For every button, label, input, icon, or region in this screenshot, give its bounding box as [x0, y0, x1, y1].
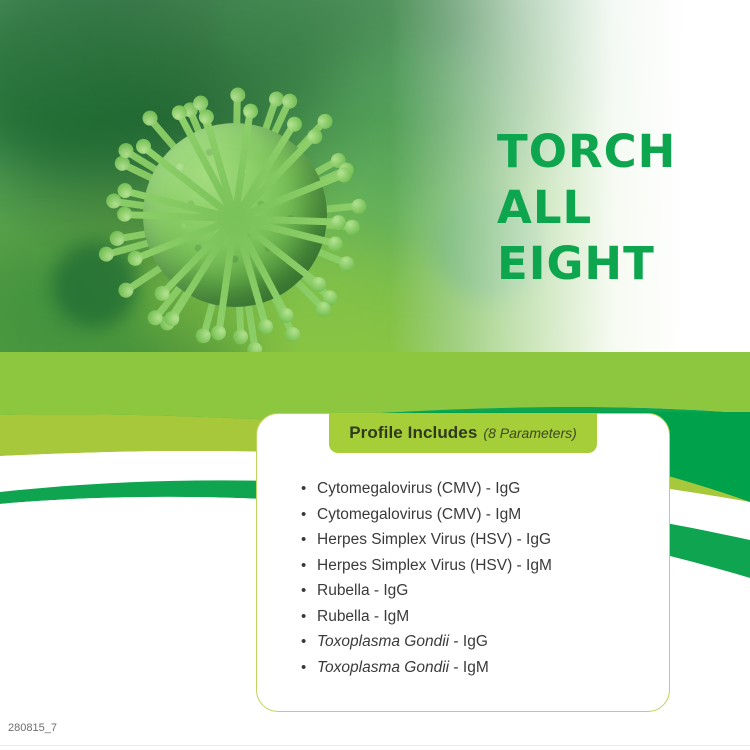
bullet-icon: • [301, 502, 317, 528]
list-item: •Toxoplasma Gondii - IgG [301, 629, 655, 655]
list-item-label: Toxoplasma Gondii - IgG [317, 629, 488, 655]
list-item: •Herpes Simplex Virus (HSV) - IgM [301, 553, 655, 579]
bullet-icon: • [301, 629, 317, 655]
virus-spike-knob [284, 114, 305, 135]
list-item: •Herpes Simplex Virus (HSV) - IgG [301, 527, 655, 553]
virus-spike-knob [133, 136, 154, 157]
virus-spike-knob [197, 108, 216, 127]
list-item-label: Herpes Simplex Virus (HSV) - IgM [317, 553, 552, 579]
virus-spike-knob [126, 249, 146, 269]
profile-includes-badge: Profile Includes (8 Parameters) [329, 413, 597, 453]
list-item: •Rubella - IgM [301, 604, 655, 630]
virus-spike-knob [117, 207, 133, 223]
list-item-label: Rubella - IgG [317, 578, 408, 604]
title-line-2: ALL [497, 180, 737, 236]
bullet-icon: • [301, 527, 317, 553]
list-item: •Rubella - IgG [301, 578, 655, 604]
virus-particle-icon [95, 75, 375, 355]
footer-divider [0, 745, 750, 746]
list-item-label: Cytomegalovirus (CMV) - IgM [317, 502, 521, 528]
virus-spikes-front [95, 75, 375, 355]
list-item-label: Rubella - IgM [317, 604, 409, 630]
virus-spike-knob [304, 126, 325, 147]
page-title: TORCH ALL EIGHT [497, 124, 737, 292]
document-code: 280815_7 [8, 722, 57, 734]
virus-spike-knob [210, 324, 227, 341]
virus-spike-knob [308, 274, 329, 295]
virus-spike-knob [169, 103, 189, 123]
virus-spike-knob [257, 317, 276, 336]
profile-card: Profile Includes (8 Parameters) •Cytomeg… [256, 413, 670, 712]
virus-spike-knob [326, 234, 344, 252]
title-line-1: TORCH [497, 124, 737, 180]
virus-spike-knob [162, 309, 183, 330]
bullet-icon: • [301, 476, 317, 502]
badge-title: Profile Includes [349, 423, 477, 443]
virus-spike-knob [276, 305, 296, 325]
virus-spike-knob [334, 165, 354, 185]
bullet-icon: • [301, 553, 317, 579]
parameter-list: •Cytomegalovirus (CMV) - IgG•Cytomegalov… [301, 476, 655, 680]
virus-spike-knob [331, 214, 347, 230]
list-item-label: Herpes Simplex Virus (HSV) - IgG [317, 527, 551, 553]
poster-page: TORCH ALL EIGHT Profile Includes (8 Para… [0, 0, 750, 750]
list-item: •Toxoplasma Gondii - IgM [301, 655, 655, 681]
virus-spike-knob [116, 182, 134, 200]
bullet-icon: • [301, 604, 317, 630]
bullet-icon: • [301, 655, 317, 681]
virus-spike-knob [152, 283, 173, 304]
list-item-label: Cytomegalovirus (CMV) - IgG [317, 476, 520, 502]
bullet-icon: • [301, 578, 317, 604]
list-item: •Cytomegalovirus (CMV) - IgG [301, 476, 655, 502]
title-line-3: EIGHT [497, 236, 737, 292]
virus-spike-knob [242, 103, 259, 120]
list-item: •Cytomegalovirus (CMV) - IgM [301, 502, 655, 528]
list-item-label: Toxoplasma Gondii - IgM [317, 655, 489, 681]
badge-subtitle: (8 Parameters) [483, 425, 576, 441]
